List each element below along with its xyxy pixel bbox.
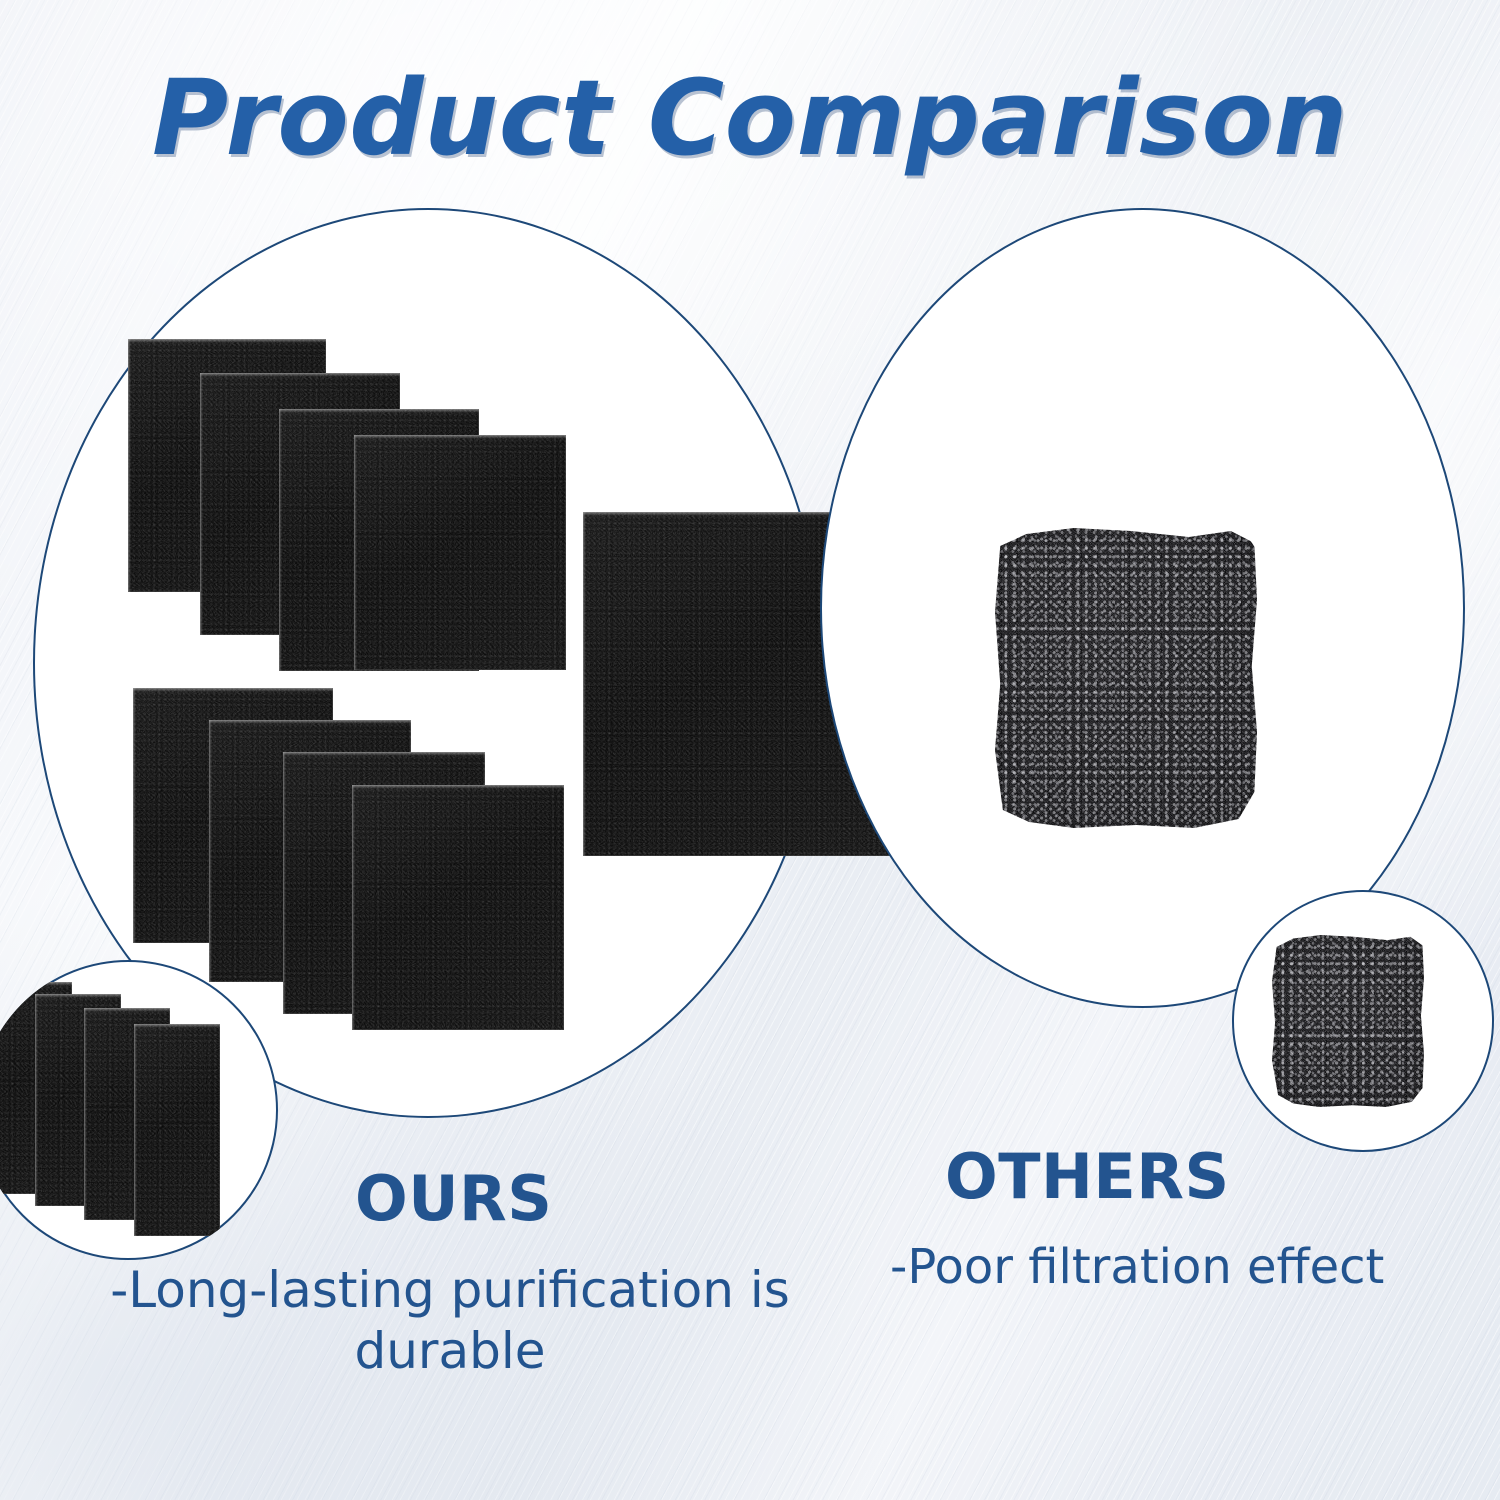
charcoal-bag-small-icon: [1272, 935, 1424, 1107]
filter-pad-icon: [354, 435, 566, 670]
others-heading: OTHERS: [945, 1140, 1230, 1213]
ours-heading: OURS: [355, 1162, 552, 1235]
charcoal-bag-icon: [995, 528, 1257, 828]
ours-subtext: -Long-lasting purification is durable: [110, 1260, 790, 1382]
filter-pad-icon: [352, 785, 564, 1030]
others-subtext: -Poor filtration effect: [890, 1238, 1380, 1297]
filter-pad-icon: [134, 1024, 220, 1236]
product-comparison-infographic: Product Comparison OURS -Long-lasting pu…: [0, 0, 1500, 1500]
page-title: Product Comparison: [0, 62, 1500, 174]
